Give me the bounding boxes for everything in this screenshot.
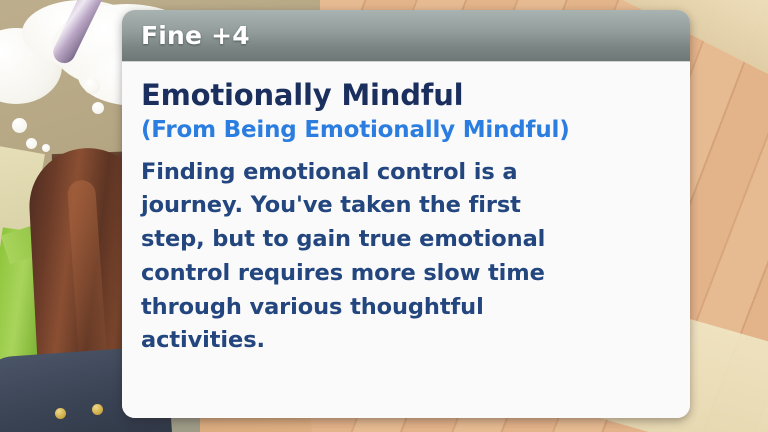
jacket-button: [55, 408, 66, 419]
tooltip-body: Emotionally Mindful (From Being Emotiona…: [122, 62, 690, 418]
emotion-intensity-label: Fine +4: [141, 21, 250, 50]
thought-bubble-dot: [42, 144, 50, 152]
buff-source-label: (From Being Emotionally Mindful): [141, 118, 668, 143]
tooltip-header-bar: Fine +4: [122, 10, 690, 62]
thought-bubble-dot: [92, 102, 104, 114]
thought-bubble-dot: [12, 118, 27, 133]
thought-bubble-dot: [26, 138, 37, 149]
buff-tooltip-panel: Fine +4 Emotionally Mindful (From Being …: [122, 10, 690, 418]
buff-description-text: Finding emotional control is a journey. …: [141, 156, 561, 359]
jacket-button: [92, 404, 103, 415]
buff-title: Emotionally Mindful: [141, 80, 668, 110]
thought-bubble-dot: [84, 78, 100, 94]
